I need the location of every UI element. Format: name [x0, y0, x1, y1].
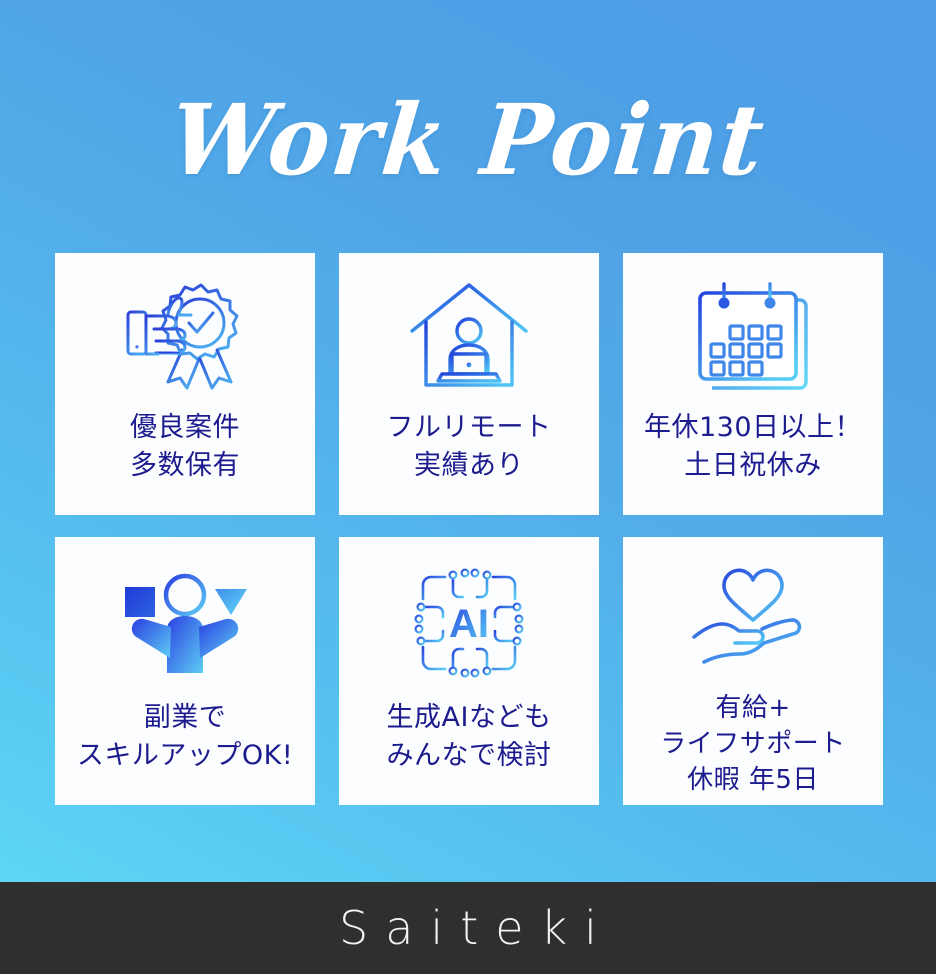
home-remote-work-icon [406, 281, 532, 395]
benefit-card-label: 優良案件 多数保有 [130, 409, 240, 486]
company-logo: Saiteki [322, 901, 614, 955]
icon-container [117, 561, 253, 685]
benefit-card-full-remote[interactable]: フルリモート 実績あり [339, 253, 599, 515]
benefit-card-side-job[interactable]: 副業で スキルアップOK! [55, 537, 315, 805]
award-thumbsup-icon [116, 278, 254, 398]
icon-container [690, 561, 816, 685]
icon-container: AI [413, 561, 525, 685]
icon-container [406, 277, 532, 399]
benefit-card-label: 年休130日以上！ 土日祝休み [644, 409, 862, 486]
work-point-poster: Work Point [0, 0, 936, 974]
benefit-card-holidays[interactable]: 年休130日以上！ 土日祝休み [623, 253, 883, 515]
benefit-card-life-support[interactable]: 有給+ ライフサポート 休暇 年5日 [623, 537, 883, 805]
benefit-card-label: 生成AIなども みんなで検討 [387, 699, 552, 776]
ai-chip-label: AI [449, 602, 489, 646]
benefit-card-grid: 優良案件 多数保有 [55, 253, 883, 805]
person-skillup-icon [117, 567, 253, 679]
benefit-card-label: フルリモート 実績あり [387, 409, 552, 486]
icon-container [116, 277, 254, 399]
benefit-card-label: 副業で スキルアップOK! [77, 699, 293, 776]
benefit-card-excellent-projects[interactable]: 優良案件 多数保有 [55, 253, 315, 515]
calendar-icon [692, 282, 814, 394]
title-container: Work Point [0, 94, 936, 186]
ai-chip-icon: AI [413, 567, 525, 679]
page-title: Work Point [166, 91, 770, 189]
benefit-card-label: 有給+ ライフサポート 休暇 年5日 [660, 691, 846, 799]
heart-in-hand-icon [690, 568, 816, 678]
footer-bar: Saiteki [0, 882, 936, 974]
benefit-card-generative-ai[interactable]: AI 生成AIなども みんなで検討 [339, 537, 599, 805]
icon-container [692, 277, 814, 399]
